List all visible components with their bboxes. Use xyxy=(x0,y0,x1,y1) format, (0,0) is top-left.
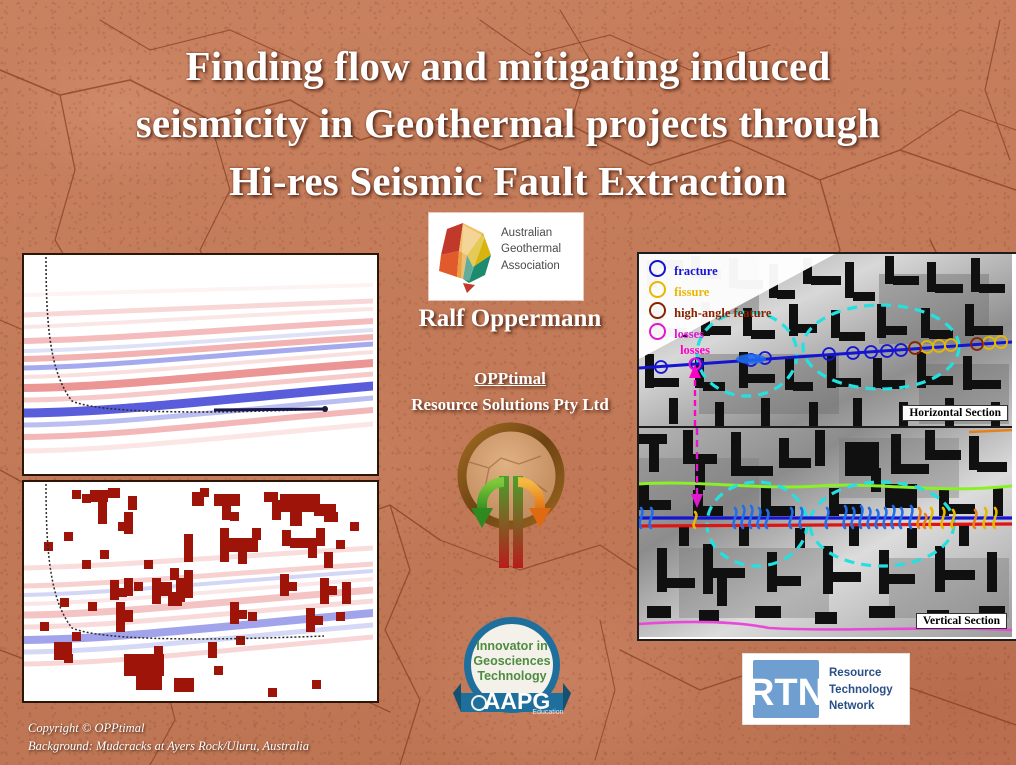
horizontal-section-image: losses xyxy=(639,254,1012,426)
fault-extraction-image xyxy=(24,482,373,697)
fault-extraction-panel xyxy=(22,480,379,703)
horizontal-section: losses fracture fissure high-angle featu… xyxy=(639,254,1012,426)
page-title: Finding flow and mitigating induced seis… xyxy=(40,38,976,210)
copyright-line-2: Background: Mudcracks at Ayers Rock/Ulur… xyxy=(28,737,309,755)
aapg-sub: Education xyxy=(532,709,563,716)
rtn-mark-icon: RTN xyxy=(751,658,821,720)
aga-line-2: Geothermal xyxy=(501,241,581,257)
losses-annotation-label: losses xyxy=(680,343,710,357)
seismic-section-panel xyxy=(22,253,379,476)
seismic-amplitude-image xyxy=(24,255,373,470)
sections-panel: losses fracture fissure high-angle featu… xyxy=(637,252,1016,641)
svg-text:RTN: RTN xyxy=(751,672,821,714)
title-line-2: seismicity in Geothermal projects throug… xyxy=(40,95,976,152)
rtn-line-1: Resource xyxy=(829,665,905,682)
copyright-text: Copyright © OPPtimal Background: Mudcrac… xyxy=(28,719,309,755)
rtn-logo-text: Resource Technology Network xyxy=(829,665,905,715)
copyright-line-1: Copyright © OPPtimal xyxy=(28,719,309,737)
title-line-3: Hi-res Seismic Fault Extraction xyxy=(40,153,976,210)
title-slide: Finding flow and mitigating induced seis… xyxy=(0,0,1016,765)
aga-line-3: Association xyxy=(501,258,581,274)
opptimal-tree-logo xyxy=(455,420,567,580)
australian-geothermal-association-logo: Australian Geothermal Association xyxy=(429,213,583,300)
aapg-line-2: Geosciences xyxy=(473,654,550,668)
rtn-line-3: Network xyxy=(829,698,905,715)
aga-logo-text: Australian Geothermal Association xyxy=(501,225,581,274)
vertical-section: Vertical Section xyxy=(639,426,1012,637)
horizontal-section-label: Horizontal Section xyxy=(902,405,1008,421)
aapg-line-1: Innovator in xyxy=(476,639,548,653)
company-subtitle: Resource Solutions Pty Ltd xyxy=(411,395,609,414)
company-name: OPPtimal xyxy=(474,369,546,388)
vertical-section-label: Vertical Section xyxy=(916,613,1007,629)
rtn-line-2: Technology xyxy=(829,682,905,699)
australia-map-icon xyxy=(433,221,503,293)
aapg-innovator-badge: Innovator in Geosciences Technology AAPG… xyxy=(451,613,573,725)
aapg-line-3: Technology xyxy=(477,669,546,683)
title-line-1: Finding flow and mitigating induced xyxy=(40,38,976,95)
resource-technology-network-logo: RTN Resource Technology Network xyxy=(742,653,910,725)
vertical-section-image xyxy=(639,428,1012,637)
aga-line-1: Australian xyxy=(501,225,581,241)
